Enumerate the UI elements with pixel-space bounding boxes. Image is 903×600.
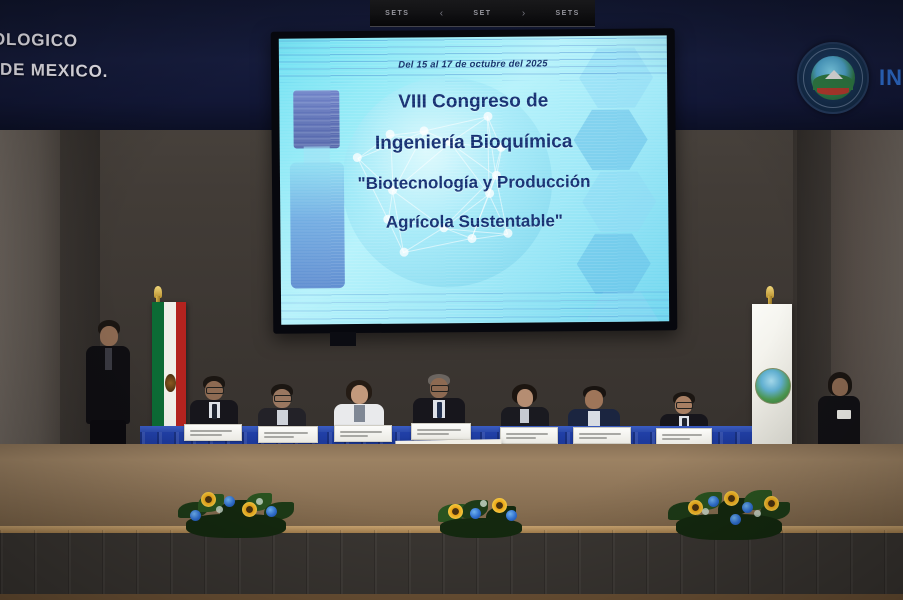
screen-mount (330, 332, 356, 346)
name-badge (837, 410, 851, 419)
name-placard-1 (184, 424, 242, 441)
banner-right-group: IN (797, 42, 903, 114)
name-placard-7 (656, 428, 712, 445)
name-placard-5 (500, 427, 558, 444)
banner-right-text: IN (879, 65, 903, 91)
name-placard-3 (334, 425, 392, 442)
auditorium-scene: OLOGICO DE MEXICO. IN SETS ‹ SET › SETS (0, 0, 903, 600)
av-label-right: SETS (556, 10, 580, 17)
bouquet-center (434, 494, 530, 540)
bouquet-left (176, 484, 296, 542)
name-placard-2 (258, 426, 318, 443)
av-label-left: SETS (385, 10, 409, 17)
projection-screen-frame: Del 15 al 17 de octubre del 2025 VIII Co… (271, 28, 678, 334)
ceiling-av-unit: SETS ‹ SET › SETS (370, 0, 595, 27)
bouquet-right (668, 482, 792, 542)
institutional-flag-crest-icon (755, 368, 791, 404)
av-arrow-left-icon: ‹ (440, 8, 443, 19)
name-placard-4 (411, 423, 471, 440)
av-label-center: SET (473, 10, 491, 17)
auditorium-floor (0, 594, 903, 600)
banner-left-text: OLOGICO DE MEXICO. (0, 30, 222, 85)
tecnm-seal-icon (797, 42, 869, 114)
slide-scanline-overlay (279, 35, 669, 324)
banner-text-line2: DE MEXICO. (0, 60, 222, 85)
banner-text-line1: OLOGICO (0, 30, 222, 55)
projection-screen: Del 15 al 17 de octubre del 2025 VIII Co… (279, 35, 669, 324)
name-placard-6 (573, 427, 631, 444)
av-arrow-right-icon: › (522, 8, 525, 19)
